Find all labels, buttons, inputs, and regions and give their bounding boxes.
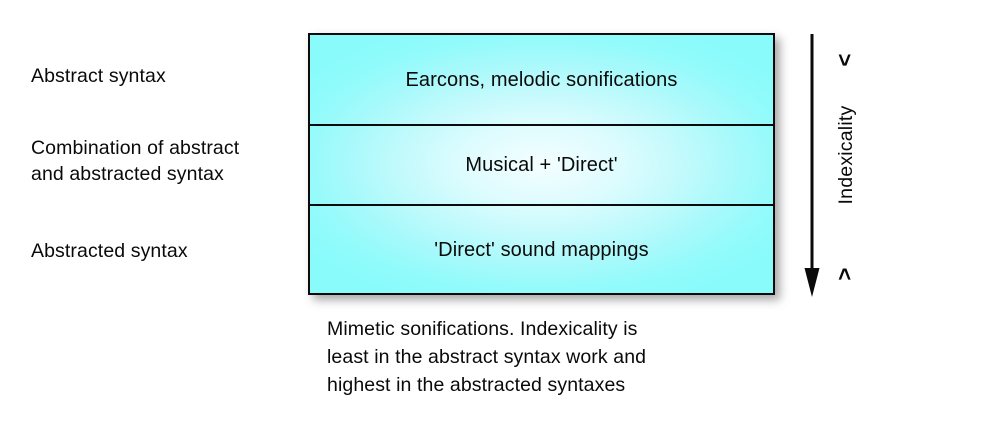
down-arrow-icon xyxy=(804,33,820,299)
figure-caption: Mimetic sonifications. Indexicality is l… xyxy=(327,315,757,399)
indexicality-down-arrow-icon xyxy=(804,33,820,299)
stack-row-label: 'Direct' sound mappings xyxy=(434,238,649,262)
chevron-up-icon: < xyxy=(834,41,856,79)
stack-row-label: Musical + 'Direct' xyxy=(465,153,617,177)
chevron-down-icon: > xyxy=(834,255,856,293)
row-label-abstracted-syntax: Abstracted syntax xyxy=(31,238,188,264)
row-label-abstract-syntax: Abstract syntax xyxy=(31,63,166,89)
indexicality-axis-label: < Indexicality > xyxy=(826,33,864,297)
axis-label-text: Indexicality xyxy=(836,75,856,235)
stack-row-label: Earcons, melodic sonifications xyxy=(405,68,677,92)
syntax-stack-box: Earcons, melodic sonifications Musical +… xyxy=(308,33,775,295)
diagram-canvas: Abstract syntax Combination of abstract … xyxy=(0,0,1000,432)
stack-row-abstract-syntax: Earcons, melodic sonifications xyxy=(310,35,773,126)
row-label-combination-of-abstract-and-abstracted-syntax: Combination of abstract and abstracted s… xyxy=(31,135,239,187)
stack-row-abstracted-syntax: 'Direct' sound mappings xyxy=(310,206,773,293)
stack-row-combination: Musical + 'Direct' xyxy=(310,126,773,206)
